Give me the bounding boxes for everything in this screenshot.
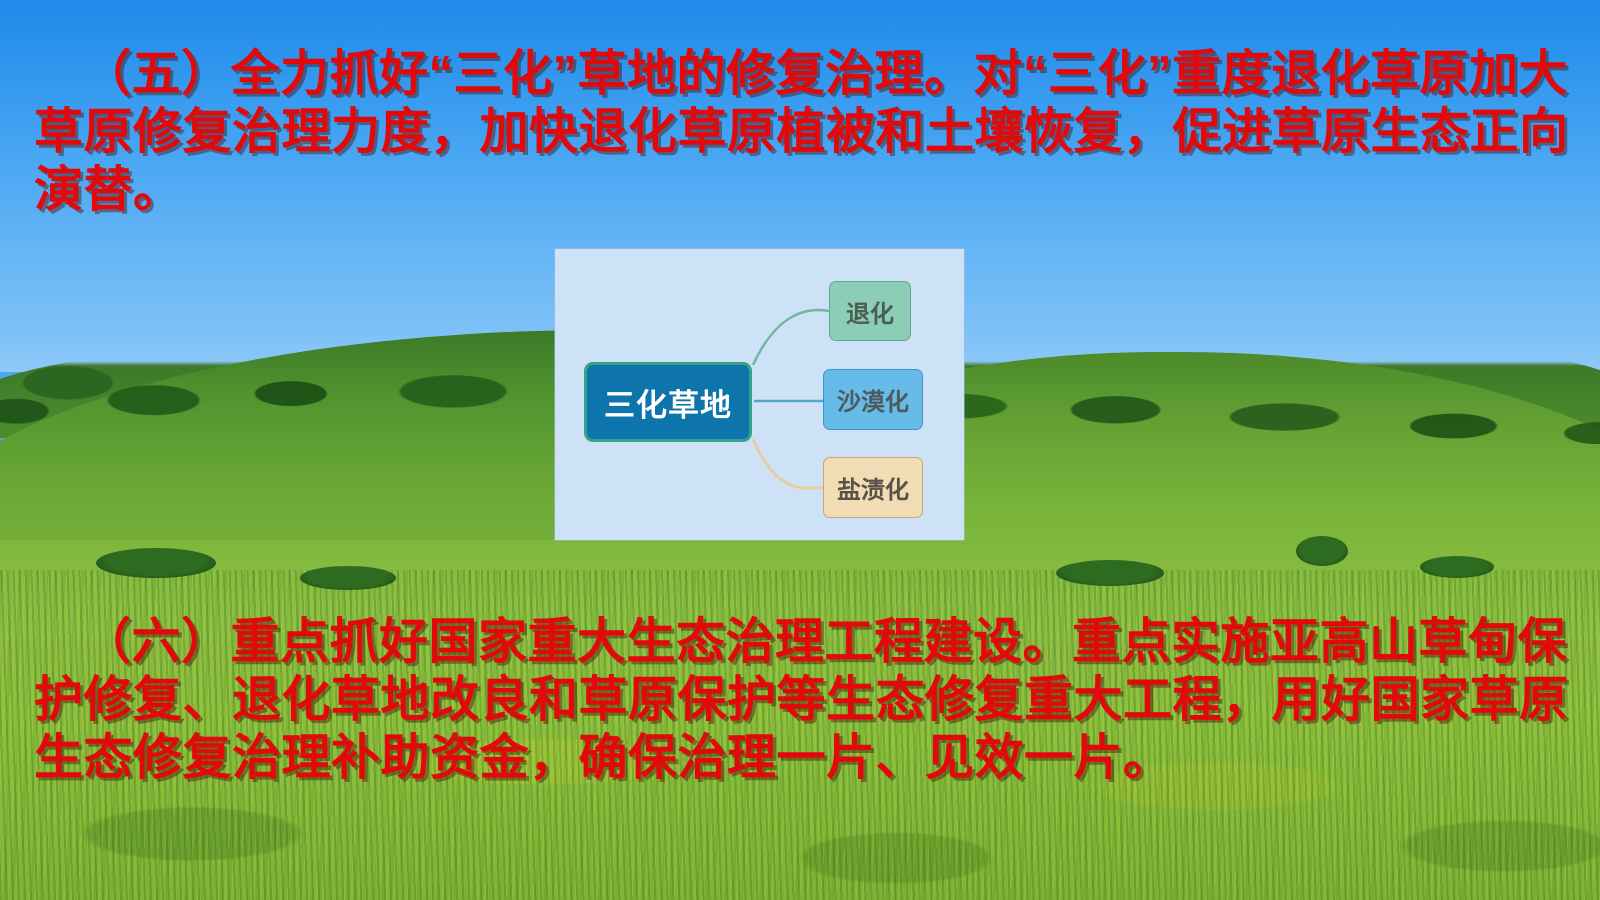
bush-shrub — [1296, 536, 1348, 566]
bush-shrub — [1420, 556, 1494, 578]
paragraph-six: （六）重点抓好国家重大生态治理工程建设。重点实施亚高山草甸保护修复、退化草地改良… — [34, 614, 1574, 787]
connector-yanzihua — [753, 439, 823, 488]
node-label: 三化草地 — [604, 380, 732, 425]
node-sanhua-caodi[interactable]: 三化草地 — [584, 362, 752, 442]
node-shamohua[interactable]: 沙漠化 — [823, 369, 923, 430]
paragraph-five: （五）全力抓好“三化”草地的修复治理。对“三化”重度退化草原加大草原修复治理力度… — [34, 46, 1574, 219]
bush-shrub — [96, 548, 216, 578]
mindmap-diagram: 三化草地 退化 沙漠化 盐渍化 — [555, 249, 964, 540]
slide-canvas: （五）全力抓好“三化”草地的修复治理。对“三化”重度退化草原加大草原修复治理力度… — [0, 0, 1600, 900]
bush-shrub — [300, 566, 396, 590]
node-tuihua[interactable]: 退化 — [829, 281, 911, 341]
node-label: 退化 — [846, 294, 894, 329]
node-yanzihua[interactable]: 盐渍化 — [823, 457, 923, 518]
bush-shrub — [1056, 560, 1164, 586]
node-label: 盐渍化 — [837, 470, 909, 505]
connector-tuihua — [753, 310, 829, 365]
node-label: 沙漠化 — [837, 382, 909, 417]
